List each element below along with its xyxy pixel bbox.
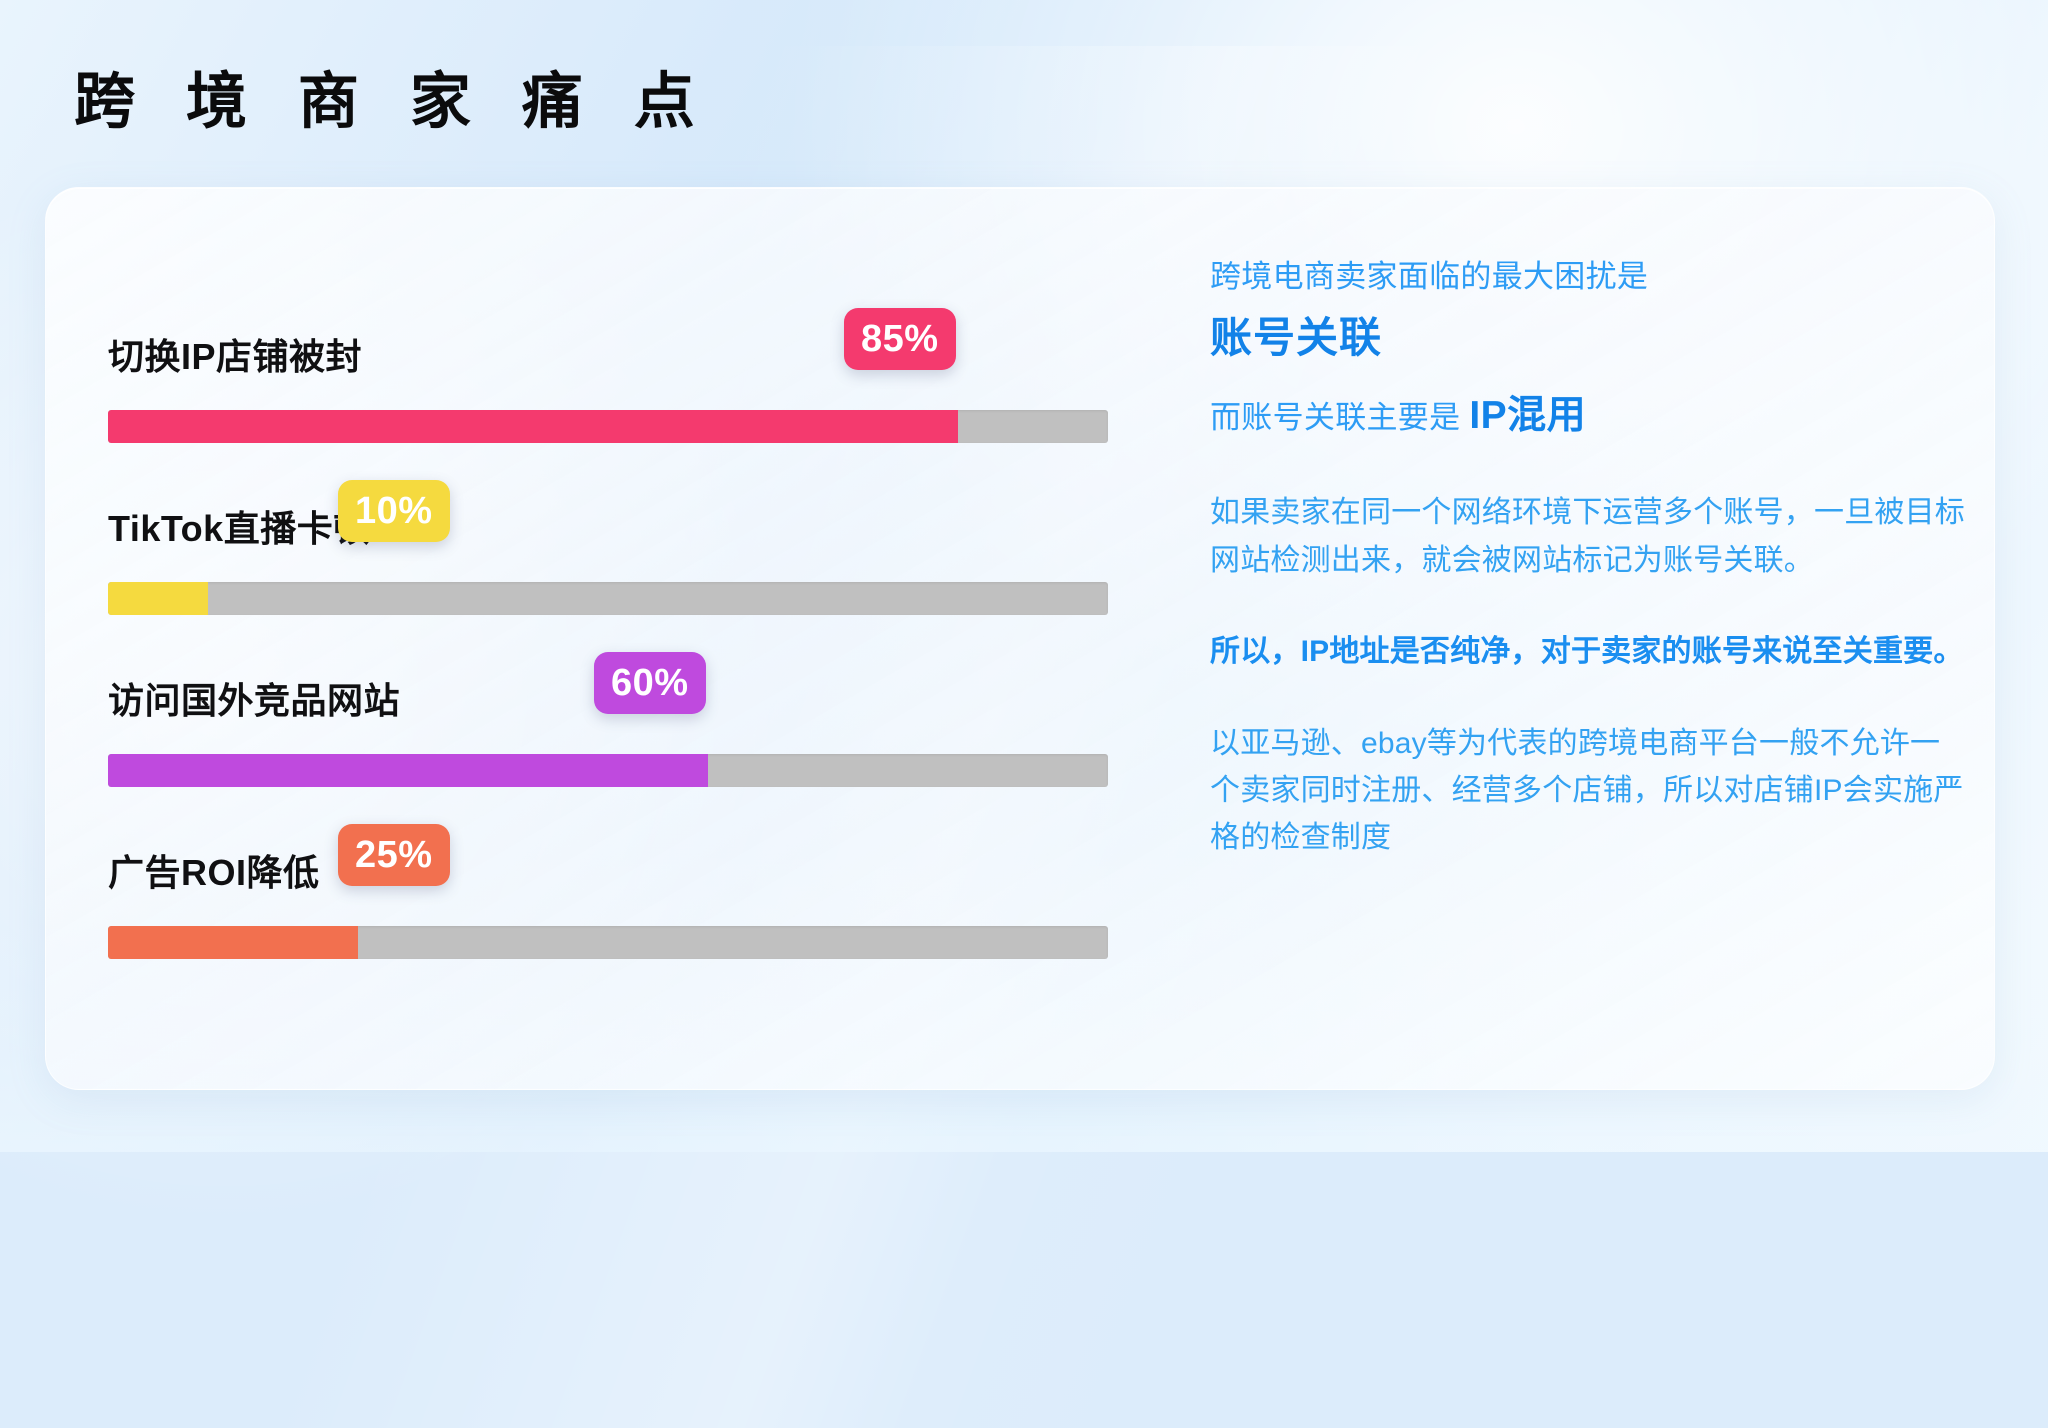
bar-label: TikTok直播卡顿 xyxy=(108,500,370,552)
bar-track xyxy=(108,582,1108,615)
bar-value-badge: 10% xyxy=(338,480,450,542)
body-paragraph-2: 所以，IP地址是否纯净，对于卖家的账号来说至关重要。 xyxy=(1210,628,1970,675)
bar-label: 广告ROI降低 xyxy=(108,844,320,896)
bar-label: 访问国外竞品网站 xyxy=(108,672,400,724)
bar-value-badge: 60% xyxy=(594,652,706,714)
bar-fill xyxy=(108,582,208,615)
lead-mixed-prefix: 而账号关联主要是 xyxy=(1210,400,1469,435)
chart-row-header: 广告ROI降低 25% xyxy=(108,816,1112,926)
bar-value-badge: 85% xyxy=(844,308,956,370)
explanation-panel: 跨境电商卖家面临的最大困扰是 账号关联 而账号关联主要是 IP混用 如果卖家在同… xyxy=(1210,255,1970,862)
pain-point-bar-chart: 切换IP店铺被封 85% TikTok直播卡顿 10% 访问国外竞品网站 60%… xyxy=(108,300,1112,988)
page-title: 跨 境 商 家 痛 点 xyxy=(74,68,712,135)
chart-row-header: 切换IP店铺被封 85% xyxy=(108,300,1112,410)
lead-mixed-line: 而账号关联主要是 IP混用 xyxy=(1210,387,1970,446)
chart-row-header: 访问国外竞品网站 60% xyxy=(108,644,1112,754)
bar-fill xyxy=(108,754,708,787)
bar-fill xyxy=(108,926,358,959)
chart-row: 切换IP店铺被封 85% xyxy=(108,300,1112,472)
bar-track xyxy=(108,926,1108,959)
lead-keyword: 账号关联 xyxy=(1210,308,1970,369)
lead-mixed-accent: IP混用 xyxy=(1469,394,1586,437)
bar-fill xyxy=(108,410,958,443)
body-paragraph-3: 以亚马逊、ebay等为代表的跨境电商平台一般不允许一个卖家同时注册、经营多个店铺… xyxy=(1210,720,1970,862)
body-paragraph-1: 如果卖家在同一个网络环境下运营多个账号，一旦被目标网站检测出来，就会被网站标记为… xyxy=(1210,489,1970,584)
bar-label: 切换IP店铺被封 xyxy=(108,328,362,380)
bar-track xyxy=(108,754,1108,787)
chart-row: 广告ROI降低 25% xyxy=(108,816,1112,988)
chart-row: 访问国外竞品网站 60% xyxy=(108,644,1112,816)
chart-row: TikTok直播卡顿 10% xyxy=(108,472,1112,644)
bar-track xyxy=(108,410,1108,443)
bar-value-badge: 25% xyxy=(338,824,450,886)
lead-line: 跨境电商卖家面临的最大困扰是 xyxy=(1210,255,1970,300)
chart-row-header: TikTok直播卡顿 10% xyxy=(108,472,1112,582)
